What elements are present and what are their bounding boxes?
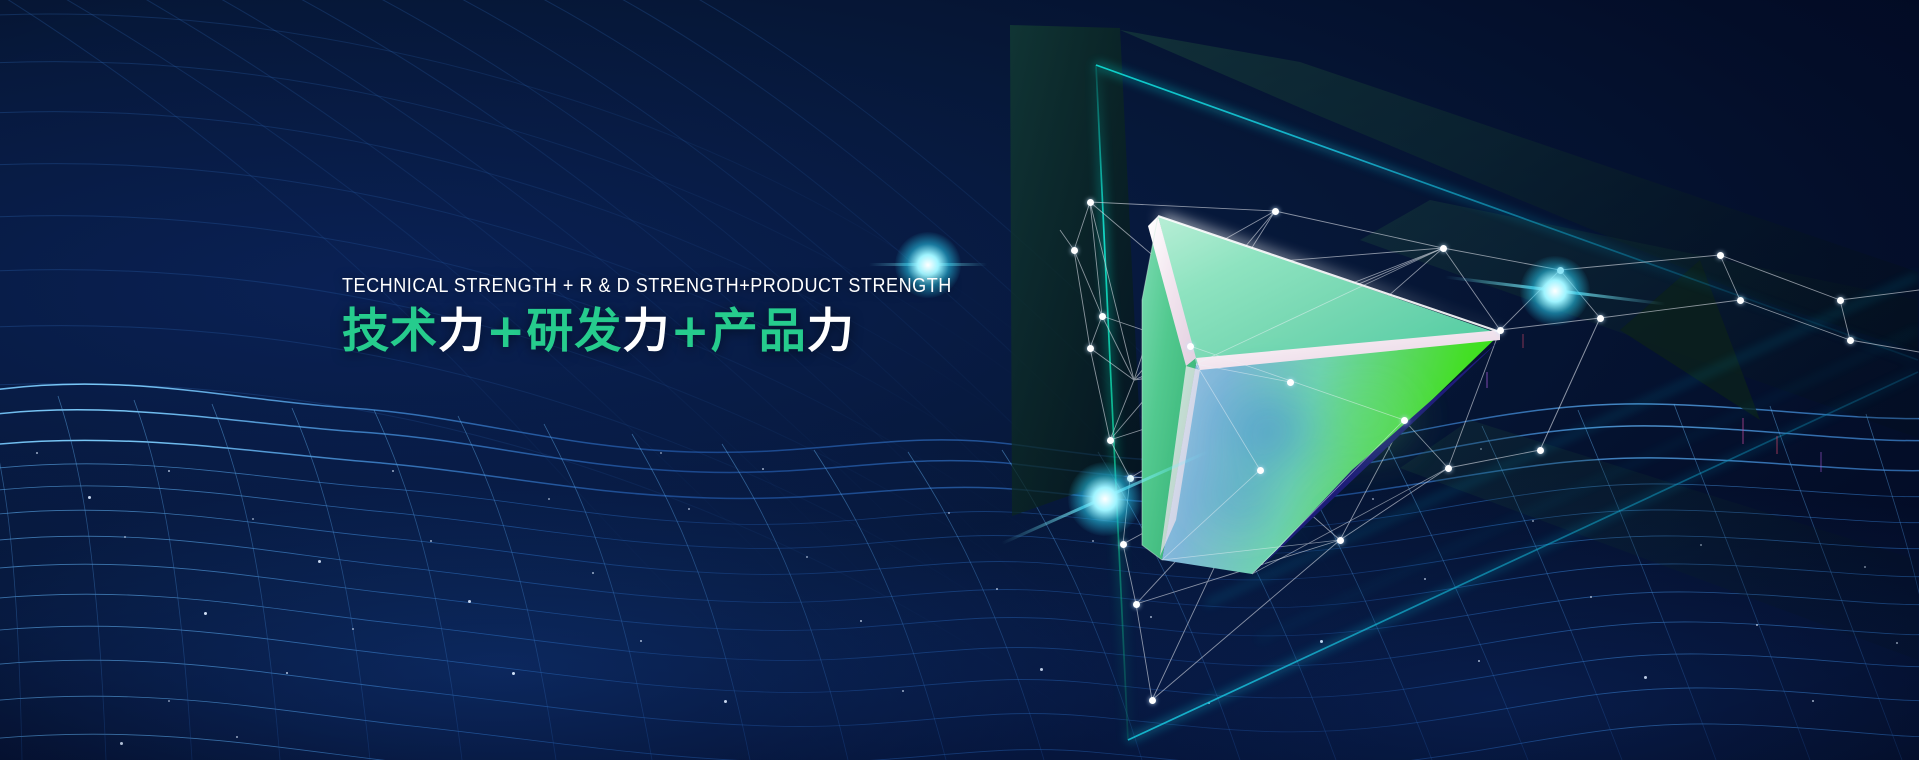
3d-play-arrow-graphic (0, 0, 1919, 760)
headline-segment-5: 力 (622, 304, 670, 359)
background-gradient (0, 0, 1919, 760)
node-dot (1440, 245, 1447, 252)
node-dot (1120, 541, 1127, 548)
node-dot (1187, 343, 1194, 350)
headline-segment-6: + (670, 304, 710, 359)
flare-right-edge (1440, 190, 1670, 360)
wave-mesh-glow (0, 0, 1919, 760)
node-dot (1717, 252, 1724, 259)
wireframe-cage (1060, 202, 1919, 700)
node-dot (1087, 345, 1094, 352)
node-dot (1737, 297, 1744, 304)
headline-segment-2: 力 (438, 304, 486, 359)
wireframe-nodes (0, 0, 1919, 760)
page-title: 技术力+研发力+产品力 (342, 308, 1035, 355)
arrow-left-wing (1142, 216, 1196, 560)
node-dot (1127, 475, 1134, 482)
node-dot (1401, 417, 1408, 424)
background-curved-grid (0, 0, 1919, 760)
hero-banner: TECHNICAL STRENGTH + R & D STRENGTH+PROD… (0, 0, 1919, 760)
node-dot (1597, 315, 1604, 322)
node-dot (1099, 313, 1106, 320)
node-dot (1497, 327, 1504, 334)
headline-block: TECHNICAL STRENGTH + R & D STRENGTH+PROD… (342, 276, 1035, 355)
node-dot (1847, 337, 1854, 344)
headline-segment-3: + (486, 304, 526, 359)
node-dot (1071, 247, 1078, 254)
node-dot (1287, 379, 1294, 386)
node-dot (1837, 297, 1844, 304)
arrow-ridge-vertical (1148, 216, 1196, 366)
node-dot (1537, 447, 1544, 454)
digital-wave-mesh (0, 0, 1919, 760)
lens-flares (0, 0, 1919, 760)
node-dot (1087, 199, 1094, 206)
node-dot (1257, 467, 1264, 474)
node-dot (1337, 537, 1344, 544)
arrow-top-face (1158, 216, 1500, 364)
dark-structure-panels (0, 0, 1919, 760)
node-dot (1133, 601, 1140, 608)
node-dot (1149, 697, 1156, 704)
node-dot (1445, 465, 1452, 472)
headline-segment-7: 产品 (711, 304, 807, 359)
flare-bottom-left (990, 390, 1220, 570)
headline-segment-1: 技术 (342, 304, 438, 359)
arrow-bottom-face (1162, 334, 1500, 574)
headline-segment-8: 力 (807, 304, 855, 359)
node-dot (1107, 437, 1114, 444)
eyebrow-text: TECHNICAL STRENGTH + R & D STRENGTH+PROD… (342, 276, 952, 297)
arrow-shadow-face (1258, 340, 1500, 570)
arrow-ridge-lower (1160, 366, 1200, 556)
node-dot (1557, 267, 1564, 274)
vignette-overlay (0, 0, 1919, 760)
arrow-ridge-horizontal (1196, 330, 1500, 370)
node-dot (1272, 208, 1279, 215)
particle-field (0, 0, 1919, 760)
headline-segment-4: 研发 (526, 304, 622, 359)
